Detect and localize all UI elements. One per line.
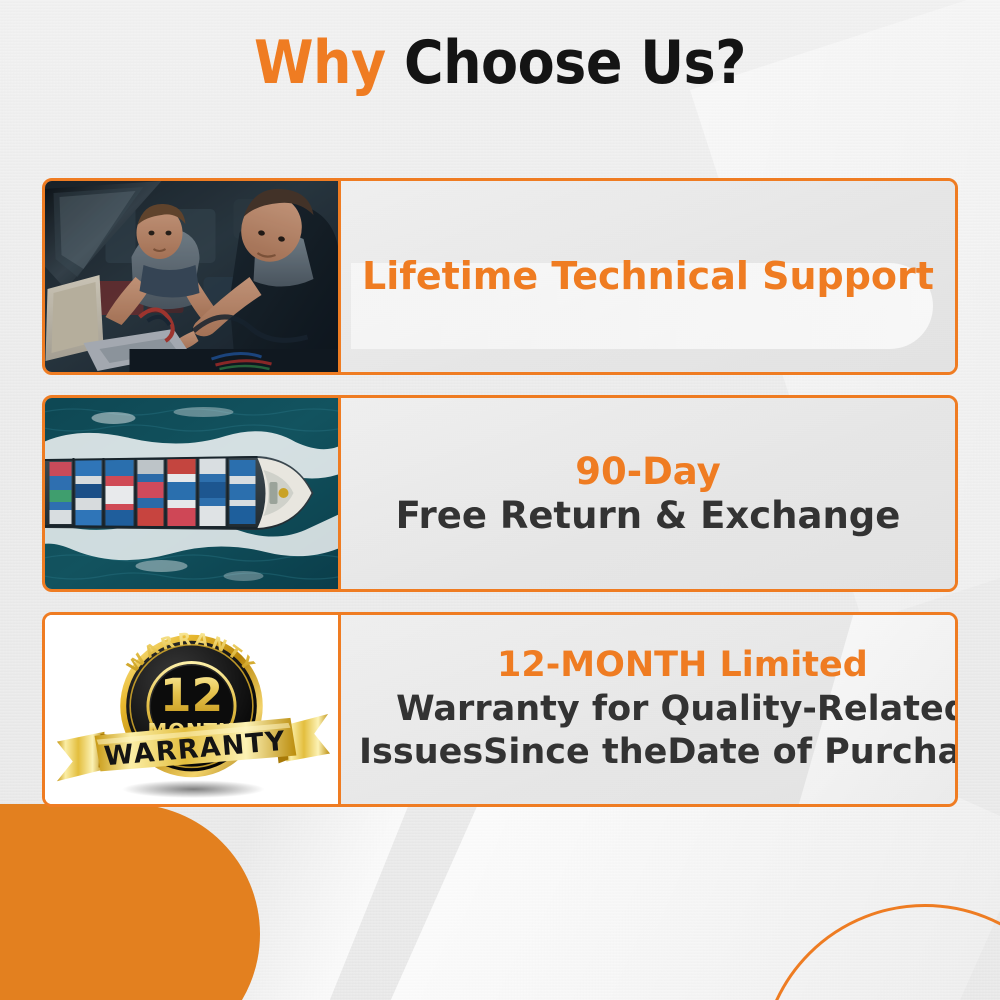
- container-ship-artwork: [45, 398, 338, 589]
- orange-blob-decoration: [0, 804, 260, 1000]
- mechanics-photo-icon: [45, 181, 341, 372]
- poster-canvas: Why Choose Us?: [0, 0, 1000, 1000]
- warranty-badge-artwork: WARRANTY 12 MONTH: [45, 615, 338, 804]
- badge-number: 12: [160, 669, 223, 722]
- benefit-card-list: Lifetime Technical Support: [42, 178, 958, 807]
- page-title: Why Choose Us?: [0, 28, 1000, 98]
- benefit-accent-line-2: 90-Day: [575, 451, 721, 492]
- container-ship-photo-icon: [45, 398, 341, 589]
- benefit-dark-line-3-1: IssuesSince theDate of Purchase: [359, 731, 958, 774]
- page-title-main: Choose Us?: [404, 28, 746, 98]
- benefit-card-lifetime-technical-support[interactable]: Lifetime Technical Support: [42, 178, 958, 375]
- benefit-accent-line-1: Lifetime Technical Support: [362, 253, 934, 299]
- benefit-dark-line-3-0: Warranty for Quality-Related: [396, 688, 958, 731]
- mechanics-photo-artwork: [45, 181, 338, 372]
- benefit-card-limited-warranty[interactable]: WARRANTY 12 MONTH: [42, 612, 958, 807]
- benefit-card-body-3: 12-MONTH Limited Warranty for Quality-Re…: [341, 615, 958, 804]
- page-title-accent: Why: [254, 28, 386, 98]
- benefit-accent-line-3: 12-MONTH Limited: [497, 646, 868, 685]
- warranty-badge-icon: WARRANTY 12 MONTH: [45, 615, 341, 804]
- benefit-card-body-2: 90-Day Free Return & Exchange: [341, 398, 955, 589]
- benefit-card-free-return-exchange[interactable]: 90-Day Free Return & Exchange: [42, 395, 958, 592]
- benefit-card-body-1: Lifetime Technical Support: [341, 181, 955, 372]
- benefit-dark-line-2-0: Free Return & Exchange: [396, 495, 901, 536]
- warranty-badge-panel: WARRANTY 12 MONTH: [45, 615, 338, 804]
